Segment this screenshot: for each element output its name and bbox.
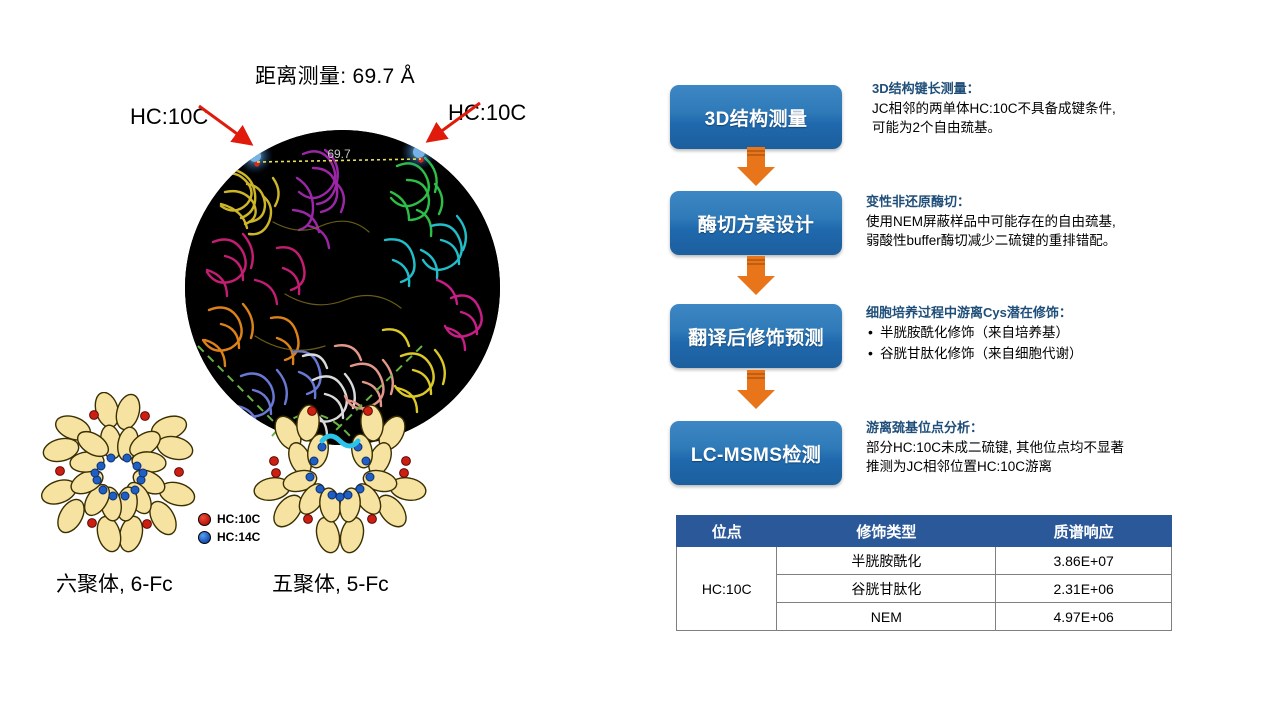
ms-response-table: 位点 修饰类型 质谱响应 HC:10C 半胱胺酰化 3.86E+07 谷胱甘肽化… <box>676 515 1172 631</box>
legend-item-hc14c: HC:14C <box>198 530 260 544</box>
table-cell-site: HC:10C <box>677 547 777 631</box>
legend-label-hc10c: HC:10C <box>217 512 260 526</box>
annotation-block-digestion: 变性非还原酶切： 使用NEM屏蔽样品中可能存在的自由巯基, 弱酸性buffer酶… <box>866 191 1196 250</box>
annotation-block-ptm: 细胞培养过程中游离Cys潜在修饰： 半胱胺酰化修饰（来自培养基） 谷胱甘肽化修饰… <box>866 302 1196 365</box>
annotation-bullet: 半胱胺酰化修饰（来自培养基） <box>866 323 1196 344</box>
table-header-modification-type: 修饰类型 <box>777 516 996 547</box>
annotation-heading: 游离巯基位点分析： <box>866 417 1196 436</box>
annotation-arrow-right <box>420 95 490 155</box>
table-cell-modification-type: NEM <box>777 603 996 631</box>
flow-step-ptm-prediction[interactable]: 翻译后修饰预测 <box>670 304 842 368</box>
table-cell-modification-type: 半胱胺酰化 <box>777 547 996 575</box>
pentamer-caption: 五聚体, 5-Fc <box>272 568 389 598</box>
annotation-line: 使用NEM屏蔽样品中可能存在的自由巯基, <box>866 212 1196 231</box>
table-cell-modification-type: 谷胱甘肽化 <box>777 575 996 603</box>
distance-value-on-structure: 69.7 <box>327 147 351 161</box>
annotation-heading: 3D结构键长测量： <box>872 78 1202 97</box>
flow-step-lc-msms-detection[interactable]: LC-MSMS检测 <box>670 421 842 485</box>
annotation-heading: 细胞培养过程中游离Cys潜在修饰： <box>866 302 1196 321</box>
hexamer-diagram <box>35 392 207 554</box>
flow-step-digestion-design[interactable]: 酶切方案设计 <box>670 191 842 255</box>
annotation-block-lc-msms: 游离巯基位点分析： 部分HC:10C未成二硫键, 其他位点均不显著 推测为JC相… <box>866 417 1196 476</box>
annotation-line: 弱酸性buffer酶切减少二硫键的重排错配。 <box>866 231 1196 250</box>
flow-arrow-down-icon-2 <box>735 256 777 296</box>
annotation-bullet: 谷胱甘肽化修饰（来自细胞代谢） <box>866 344 1196 365</box>
red-dot-icon <box>198 513 211 526</box>
table-header-ms-response: 质谱响应 <box>996 516 1172 547</box>
pentamer-diagram <box>252 385 428 557</box>
structure-panel: 距离测量: 69.7 Å HC:10C HC:10C <box>0 0 640 720</box>
legend-label-hc14c: HC:14C <box>217 530 260 544</box>
table-row: HC:10C 半胱胺酰化 3.86E+07 <box>677 547 1172 575</box>
distance-measurement-title: 距离测量: 69.7 Å <box>170 60 500 90</box>
annotation-block-3d-structure: 3D结构键长测量： JC相邻的两单体HC:10C不具备成键条件, 可能为2个自由… <box>872 78 1202 137</box>
table-cell-ms-response: 3.86E+07 <box>996 547 1172 575</box>
annotation-arrow-left <box>195 98 265 158</box>
flow-step-3d-structure-measurement[interactable]: 3D结构测量 <box>670 85 842 149</box>
flow-arrow-down-icon-3 <box>735 370 777 410</box>
flow-arrow-down-icon-1 <box>735 147 777 187</box>
annotation-heading: 变性非还原酶切： <box>866 191 1196 210</box>
annotation-line: 部分HC:10C未成二硫键, 其他位点均不显著 <box>866 438 1196 457</box>
structure-legend: HC:10C HC:14C <box>198 512 260 548</box>
annotation-line: 可能为2个自由巯基。 <box>872 118 1202 137</box>
table-header-site: 位点 <box>677 516 777 547</box>
annotation-line: 推测为JC相邻位置HC:10C游离 <box>866 457 1196 476</box>
annotation-line: JC相邻的两单体HC:10C不具备成键条件, <box>872 99 1202 118</box>
table-cell-ms-response: 2.31E+06 <box>996 575 1172 603</box>
hexamer-caption: 六聚体, 6-Fc <box>56 568 173 598</box>
table-cell-ms-response: 4.97E+06 <box>996 603 1172 631</box>
legend-item-hc10c: HC:10C <box>198 512 260 526</box>
blue-dot-icon <box>198 531 211 544</box>
table-header-row: 位点 修饰类型 质谱响应 <box>677 516 1172 547</box>
